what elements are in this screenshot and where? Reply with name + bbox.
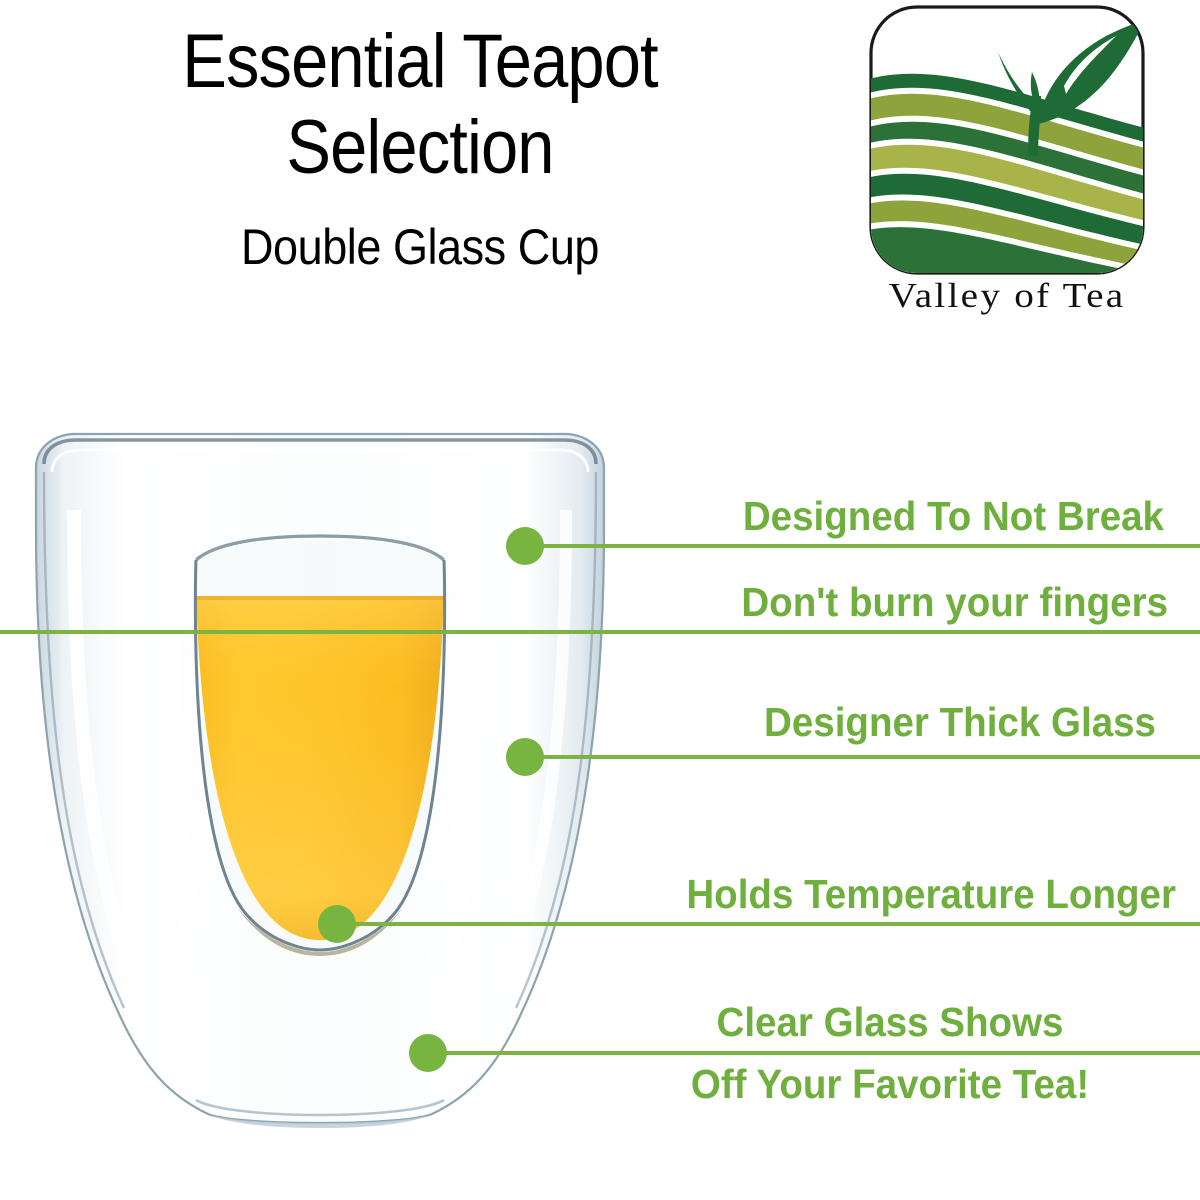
page-subtitle: Double Glass Cup	[42, 222, 798, 272]
tea-leaf-sprout-over-hills-icon	[868, 4, 1146, 276]
callout-label-designed-to-not-break: Designed To Not Break	[506, 494, 1164, 538]
callout-label-designer-thick-glass: Designer Thick Glass	[498, 700, 1156, 744]
page-title-line-1: Essential Teapot	[50, 24, 789, 100]
callout-label-clear-glass-shows: Clear Glass Shows	[636, 1000, 1144, 1044]
callout-label-holds-temperature-longer: Holds Temperature Longer	[480, 872, 1176, 916]
callout-label-dont-burn-your-fingers: Don't burn your fingers	[510, 580, 1168, 624]
brand-logo: Valley of Tea	[862, 4, 1152, 324]
page-title-line-2: Selection	[50, 110, 789, 186]
brand-wordmark: Valley of Tea	[845, 276, 1170, 316]
callout-label-off-your-favorite-tea: Off Your Favorite Tea!	[636, 1062, 1144, 1106]
header-block: Essential Teapot Selection Double Glass …	[0, 0, 840, 300]
